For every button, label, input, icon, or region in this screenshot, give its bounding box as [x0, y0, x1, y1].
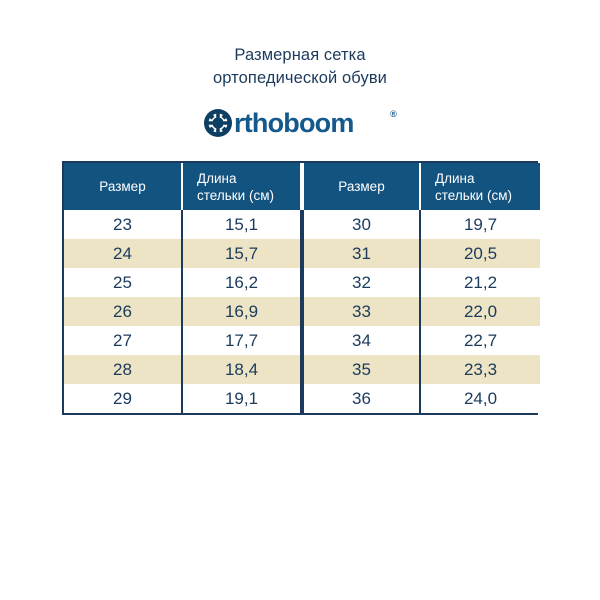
table-row: 2616,93322,0 [64, 297, 540, 326]
cell-length-left: 19,1 [182, 384, 302, 413]
cell-length-right: 21,2 [420, 268, 540, 297]
brand-logo: rthoboom ® [0, 108, 600, 138]
cell-size-right: 32 [302, 268, 420, 297]
brand-logo-wrap: rthoboom ® [203, 108, 397, 138]
column-header-length-left-line-2: стельки (см) [197, 187, 300, 204]
size-table-head: Размер Длина стельки (см) Размер Длина с… [64, 163, 540, 210]
svg-text:rthoboom: rthoboom [234, 108, 354, 138]
cell-size-left: 23 [64, 210, 182, 239]
cell-size-left: 26 [64, 297, 182, 326]
cell-length-right: 22,7 [420, 326, 540, 355]
cell-size-left: 24 [64, 239, 182, 268]
cell-length-left: 17,7 [182, 326, 302, 355]
column-header-size-left: Размер [64, 163, 182, 210]
cell-length-right: 22,0 [420, 297, 540, 326]
cell-length-right: 19,7 [420, 210, 540, 239]
cell-length-left: 15,1 [182, 210, 302, 239]
cell-length-left: 16,2 [182, 268, 302, 297]
cell-size-left: 29 [64, 384, 182, 413]
cell-size-left: 27 [64, 326, 182, 355]
column-header-length-right: Длина стельки (см) [420, 163, 540, 210]
size-table-body: 2315,13019,72415,73120,52516,23221,22616… [64, 210, 540, 413]
column-header-length-right-line-2: стельки (см) [435, 187, 540, 204]
column-header-length-right-line-1: Длина [435, 170, 540, 187]
table-row: 2919,13624,0 [64, 384, 540, 413]
registered-trademark-icon: ® [390, 110, 397, 119]
table-row: 2516,23221,2 [64, 268, 540, 297]
page-title-line-2: ортопедической обуви [0, 67, 600, 90]
size-table: Размер Длина стельки (см) Размер Длина с… [64, 163, 540, 413]
table-row: 2415,73120,5 [64, 239, 540, 268]
cell-size-right: 31 [302, 239, 420, 268]
cell-size-left: 28 [64, 355, 182, 384]
table-row: 2315,13019,7 [64, 210, 540, 239]
cell-length-left: 15,7 [182, 239, 302, 268]
size-table-header-row: Размер Длина стельки (см) Размер Длина с… [64, 163, 540, 210]
cell-length-left: 16,9 [182, 297, 302, 326]
cell-length-left: 18,4 [182, 355, 302, 384]
cell-size-right: 35 [302, 355, 420, 384]
cell-size-right: 36 [302, 384, 420, 413]
cell-length-right: 23,3 [420, 355, 540, 384]
page-title: Размерная сетка ортопедической обуви [0, 44, 600, 90]
cell-size-right: 33 [302, 297, 420, 326]
column-header-length-left: Длина стельки (см) [182, 163, 302, 210]
column-header-size-right: Размер [302, 163, 420, 210]
cell-size-right: 30 [302, 210, 420, 239]
cell-size-right: 34 [302, 326, 420, 355]
table-row: 2717,73422,7 [64, 326, 540, 355]
size-table-container: Размер Длина стельки (см) Размер Длина с… [62, 161, 538, 415]
orthoboom-wordmark-icon: rthoboom [203, 108, 389, 138]
page-title-line-1: Размерная сетка [0, 44, 600, 67]
size-chart-page: Размерная сетка ортопедической обуви [0, 0, 600, 600]
column-header-length-left-line-1: Длина [197, 170, 300, 187]
cell-length-right: 24,0 [420, 384, 540, 413]
cell-size-left: 25 [64, 268, 182, 297]
table-row: 2818,43523,3 [64, 355, 540, 384]
cell-length-right: 20,5 [420, 239, 540, 268]
